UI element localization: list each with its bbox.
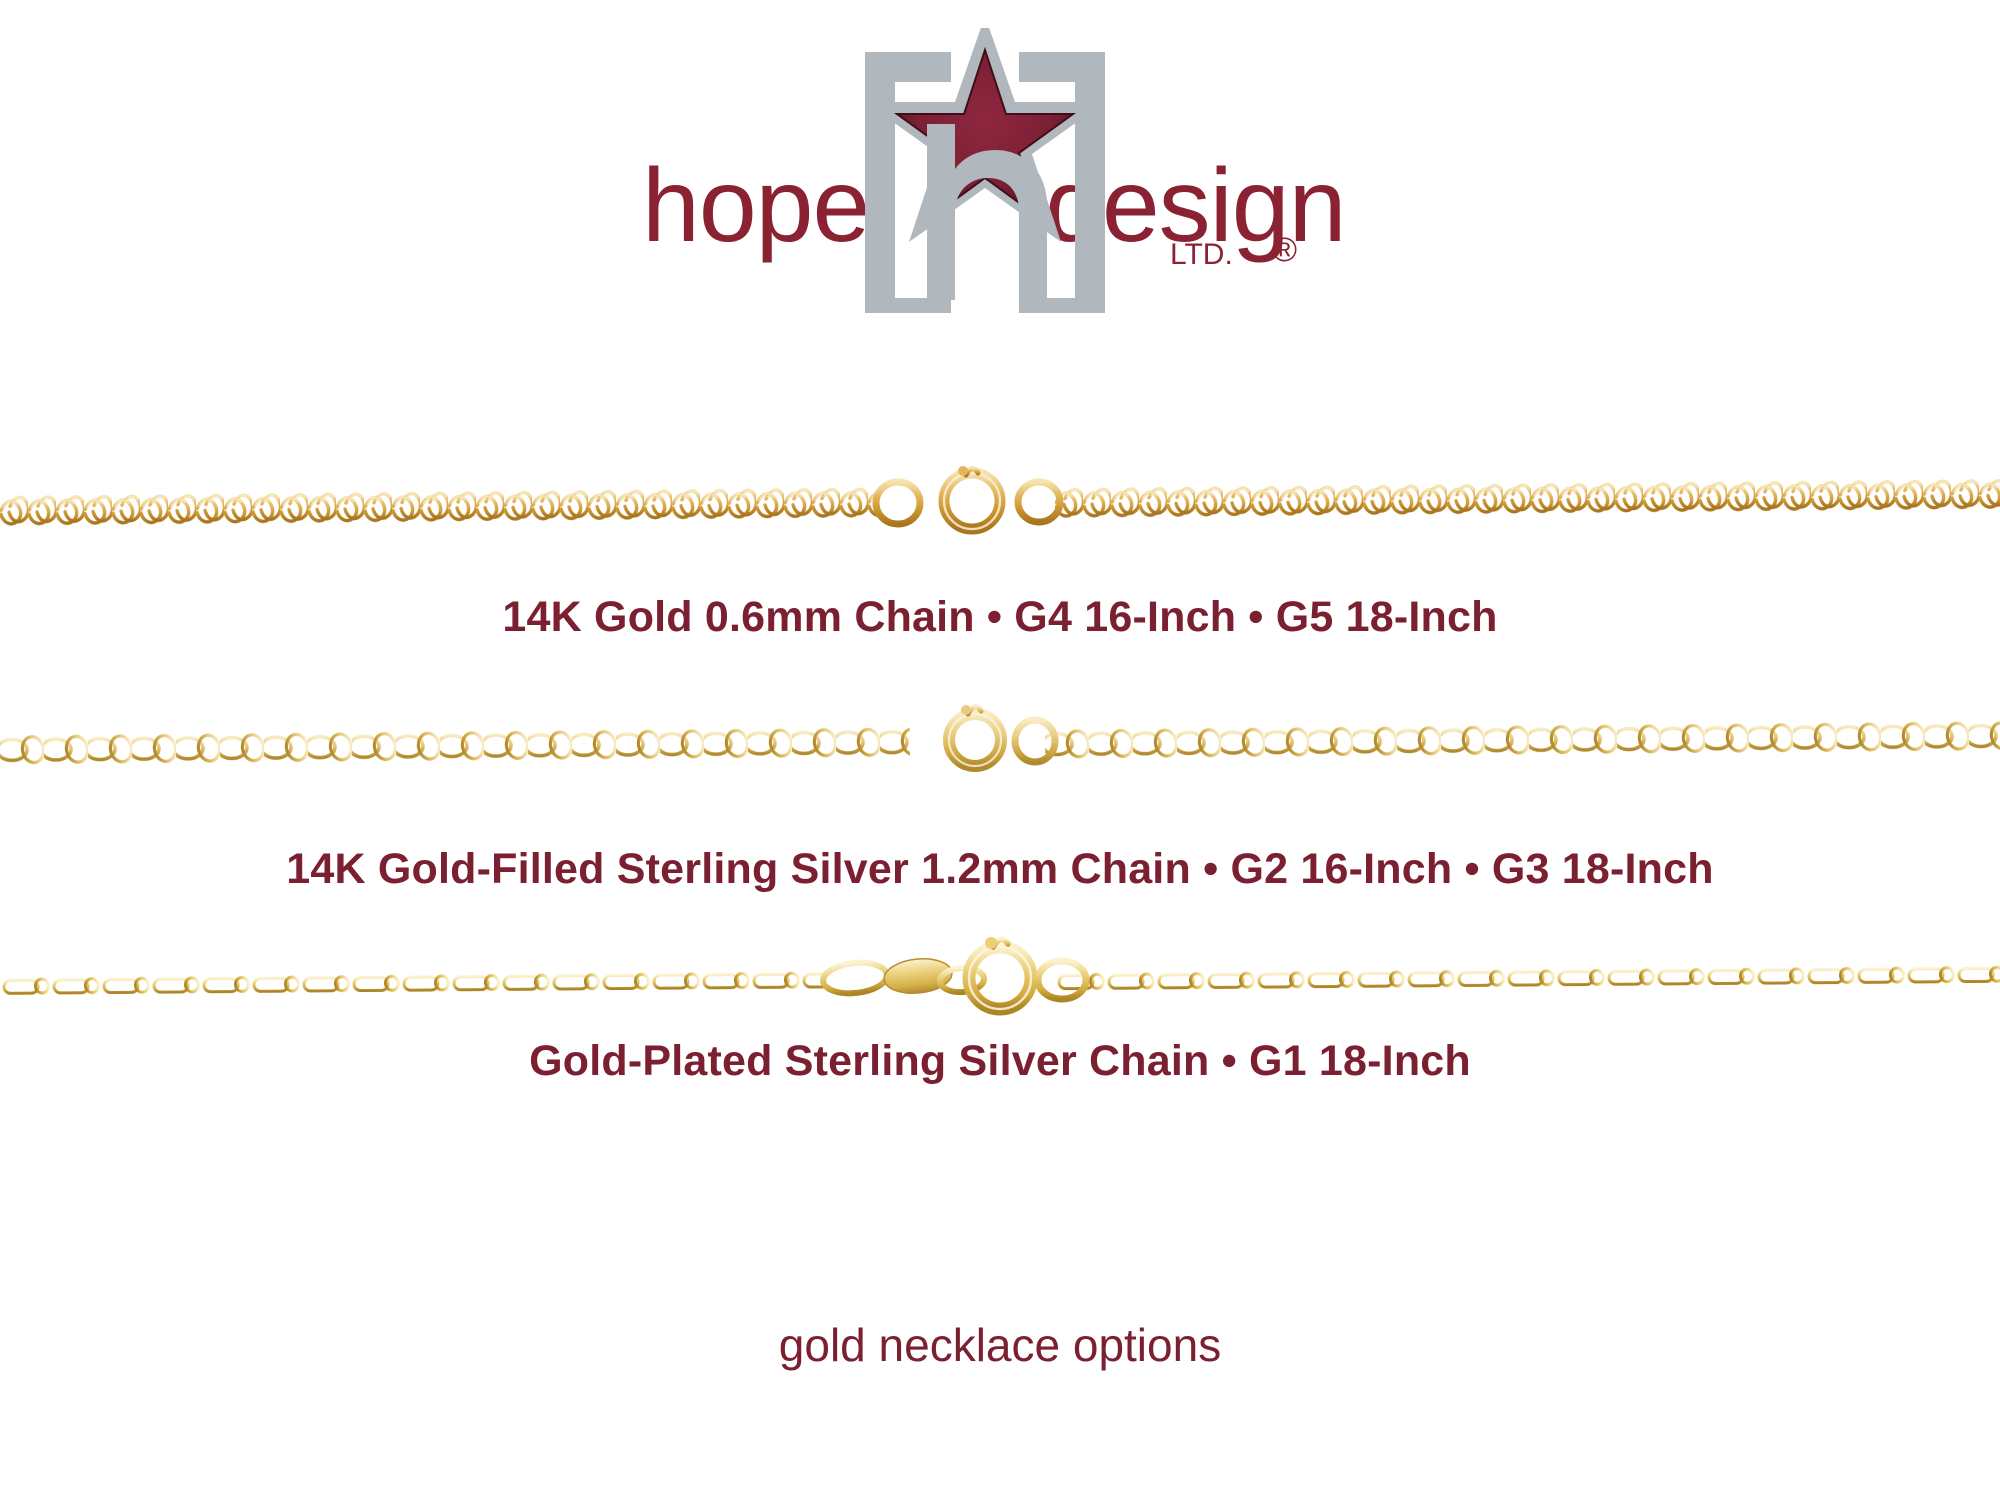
chain-caption-1: 14K Gold 0.6mm Chain • G4 16-Inch • G5 1… [0, 593, 2000, 642]
star-hd-monogram-icon [865, 28, 1105, 313]
chain-image-gold-filled-cable [0, 680, 2000, 800]
logo-text-hope: hope [642, 154, 869, 258]
product-options-page: hope design LTD. ® [0, 0, 2000, 1500]
chain-image-gold-plated-silver [0, 920, 2000, 1040]
logo-text-ltd: LTD. [1170, 240, 1233, 270]
chain-caption-2: 14K Gold-Filled Sterling Silver 1.2mm Ch… [0, 845, 2000, 894]
registered-trademark-icon: ® [1272, 233, 1297, 267]
brand-logo: hope design LTD. ® [0, 28, 2000, 318]
chain-caption-3: Gold-Plated Sterling Silver Chain • G1 1… [0, 1037, 2000, 1086]
chain-image-rope-14k-gold [0, 440, 2000, 560]
page-footer-caption: gold necklace options [0, 1318, 2000, 1372]
